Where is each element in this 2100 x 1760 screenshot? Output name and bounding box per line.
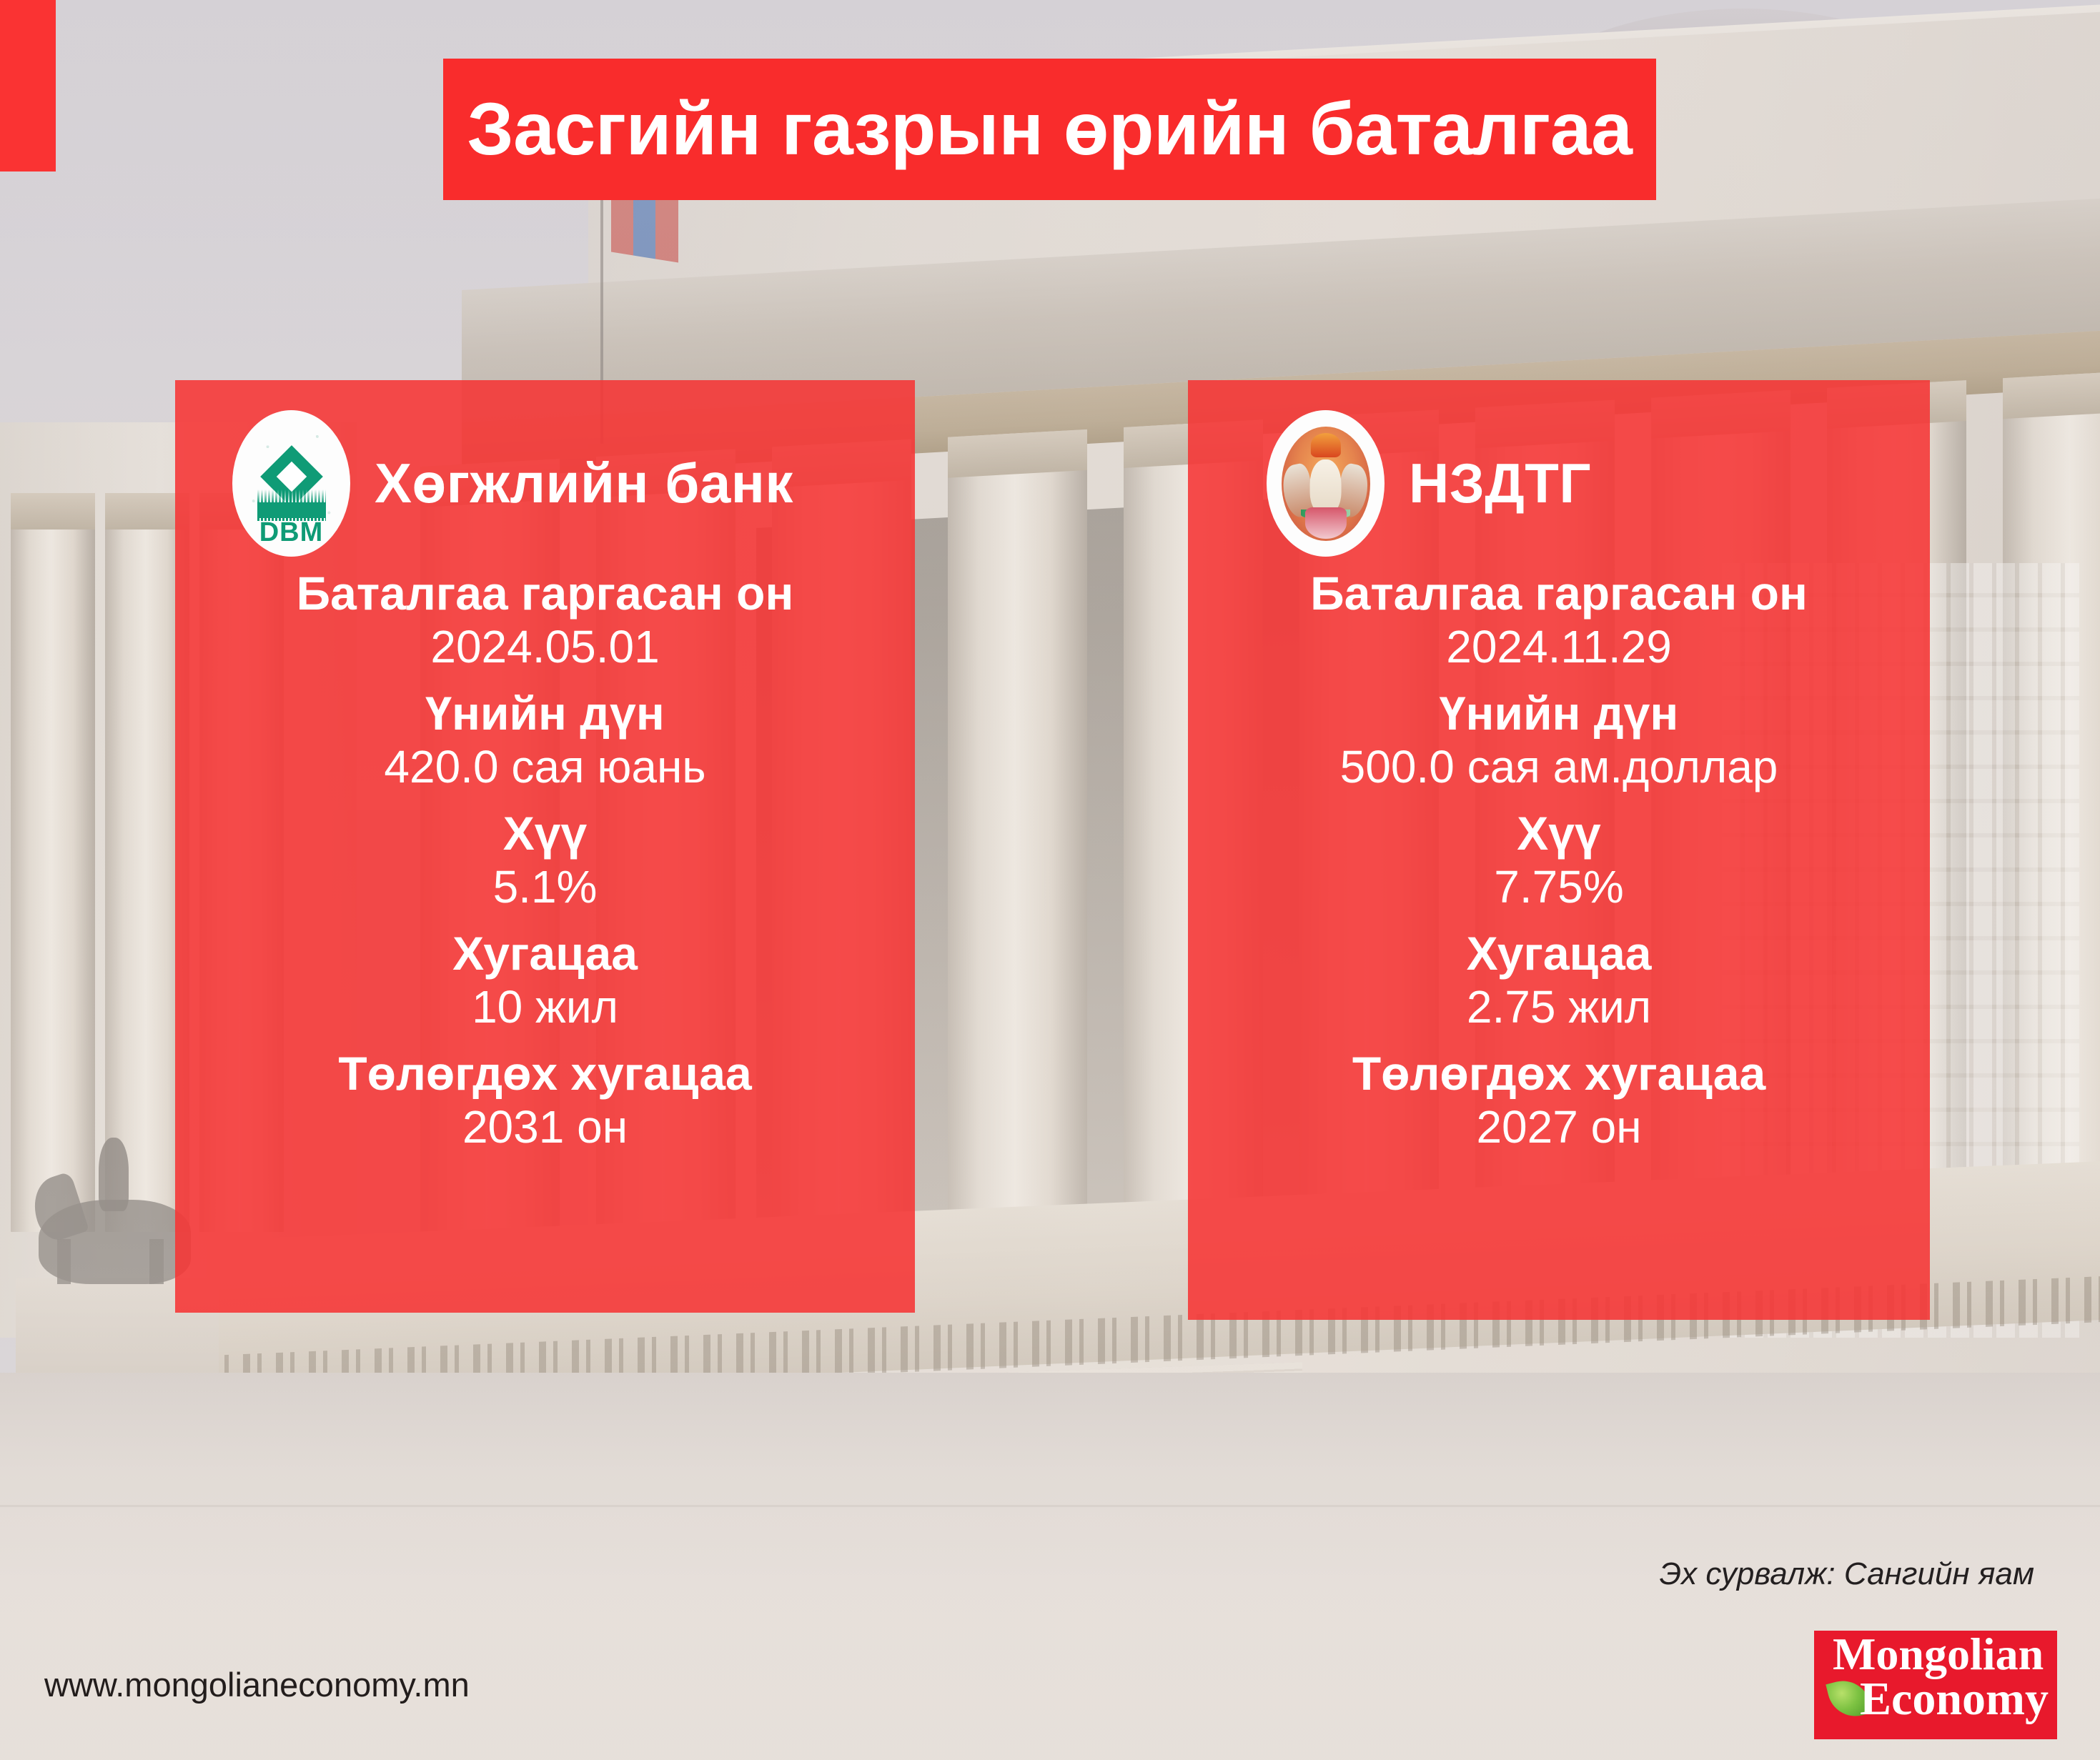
field-label-amount: Үнийн дүн: [204, 687, 886, 740]
field-value-issue-date: 2024.11.29: [1217, 620, 1901, 675]
field-label-interest: Хүү: [204, 807, 886, 860]
corner-accent-block: [0, 0, 56, 171]
card-body: Баталгаа гаргасан он 2024.05.01 Үнийн дү…: [204, 567, 886, 1154]
field-label-term: Хугацаа: [204, 927, 886, 980]
page-title: Засгийн газрын өрийн баталгаа: [467, 87, 1633, 172]
field-label-maturity: Төлөгдөх хугацаа: [1217, 1047, 1901, 1100]
title-banner: Засгийн газрын өрийн баталгаа: [443, 59, 1656, 200]
field-value-term: 10 жил: [204, 980, 886, 1035]
dbm-base-shape: [257, 502, 326, 518]
emblem-body: [1309, 459, 1342, 514]
guarantee-card-nzdtg: НЗДТГ Баталгаа гаргасан он 2024.11.29 Үн…: [1188, 380, 1930, 1320]
emblem-crown: [1310, 433, 1340, 457]
website-url: www.mongolianeconomy.mn: [44, 1665, 470, 1704]
field-label-maturity: Төлөгдөх хугацаа: [204, 1047, 886, 1100]
field-label-issue-date: Баталгаа гаргасан он: [204, 567, 886, 620]
field-label-term: Хугацаа: [1217, 927, 1901, 980]
field-label-amount: Үнийн дүн: [1217, 687, 1901, 740]
card-body: Баталгаа гаргасан он 2024.11.29 Үнийн дү…: [1217, 567, 1901, 1154]
field-value-maturity: 2027 он: [1217, 1100, 1901, 1155]
brand-line-two: Economy: [1860, 1672, 2049, 1726]
field-label-issue-date: Баталгаа гаргасан он: [1217, 567, 1901, 620]
guarantee-card-development-bank: DBM Хөгжлийн банк Баталгаа гаргасан он 2…: [175, 380, 915, 1313]
dbm-logo-icon: DBM: [232, 410, 350, 557]
field-label-interest: Хүү: [1217, 807, 1901, 860]
organization-name: НЗДТГ: [1409, 451, 1591, 516]
mongolian-economy-logo: Mongolian Economy: [1814, 1631, 2057, 1739]
soyombo-garuda-emblem: [1279, 424, 1373, 544]
source-attribution: Эх сурвалж: Сангийн яам: [1660, 1556, 2034, 1592]
organization-name: Хөгжлийн банк: [375, 451, 793, 516]
field-value-interest: 7.75%: [1217, 860, 1901, 915]
field-value-amount: 420.0 сая юань: [204, 740, 886, 795]
dbm-wordmark: DBM: [232, 517, 350, 548]
emblem-tail: [1304, 507, 1346, 539]
infographic-canvas: Засгийн газрын өрийн баталгаа DBM Хөгжли…: [0, 0, 2100, 1760]
card-header: НЗДТГ: [1217, 410, 1901, 557]
field-value-issue-date: 2024.05.01: [204, 620, 886, 675]
field-value-interest: 5.1%: [204, 860, 886, 915]
field-value-maturity: 2031 он: [204, 1100, 886, 1155]
field-value-term: 2.75 жил: [1217, 980, 1901, 1035]
card-header: DBM Хөгжлийн банк: [204, 410, 886, 557]
mongolian-state-emblem-icon: [1267, 410, 1385, 557]
field-value-amount: 500.0 сая ам.доллар: [1217, 740, 1901, 795]
